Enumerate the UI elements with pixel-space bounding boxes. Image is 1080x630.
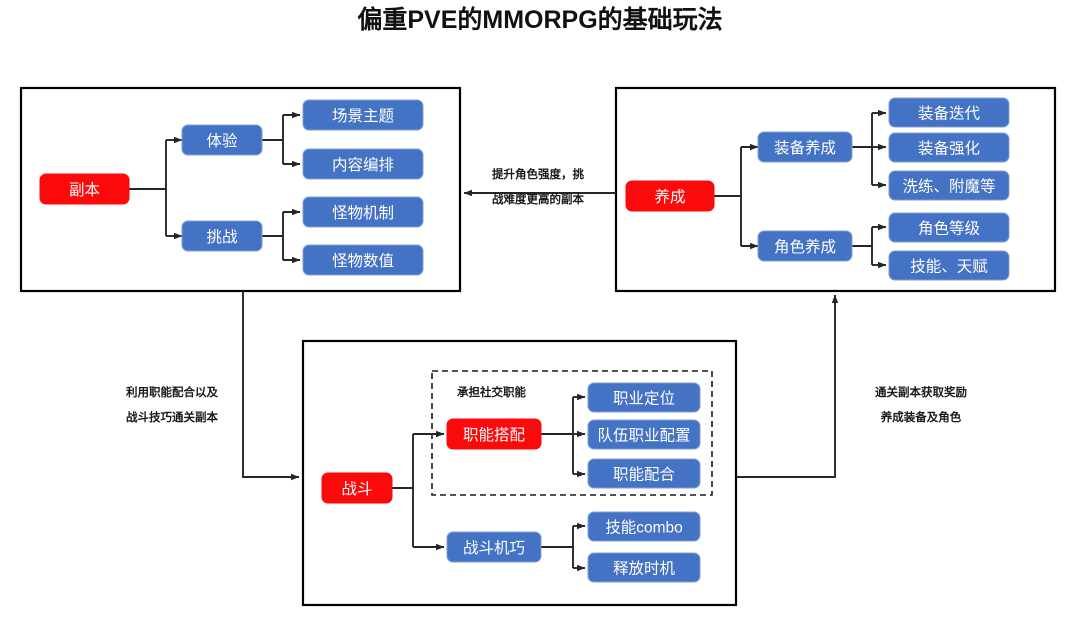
node-label: 怪物数值 [332,252,394,270]
node-label: 装备强化 [918,140,980,158]
connector-combat-to-progression [736,295,835,477]
connector-dungeon-to-combat [243,291,299,477]
connector-progression-to-dungeon-label-line1: 提升角色强度，挑 [492,167,584,181]
node-neirongbianpai[interactable]: 内容编排 [303,149,423,179]
node-label: 养成 [654,188,685,206]
connector-dungeon-to-combat-label-line1: 利用职能配合以及 [125,385,218,399]
node-label: 释放时机 [613,560,676,578]
node-label: 角色养成 [774,238,836,256]
social-function-group-label: 承担社交职能 [456,385,526,399]
node-tiaozhan[interactable]: 挑战 [182,221,262,251]
node-jinengcombo[interactable]: 技能combo [588,512,700,541]
node-guaiwushuzhi[interactable]: 怪物数值 [303,245,423,275]
node-fuben[interactable]: 副本 [40,174,129,204]
connector-dungeon-to-combat-label-line2: 战斗技巧通关副本 [126,410,218,424]
node-shifangshiji[interactable]: 释放时机 [588,553,700,582]
node-zhuangbeidiedai[interactable]: 装备迭代 [889,98,1009,127]
node-tiyan[interactable]: 体验 [182,125,262,155]
node-label: 洗练、附魔等 [902,178,995,196]
page-title: 偏重PVE的MMORPG的基础玩法 [357,5,722,34]
node-duiwuzhiyepeizhi[interactable]: 队伍职业配置 [588,420,700,449]
node-zhinengpeihe[interactable]: 职能配合 [588,459,700,488]
node-zhandoujiqiao[interactable]: 战斗机巧 [447,532,541,562]
node-label: 挑战 [206,228,238,246]
node-label: 技能、天赋 [910,258,988,276]
node-label: 技能combo [605,519,683,537]
node-zhuangbeiqianghua[interactable]: 装备强化 [889,133,1009,162]
node-label: 体验 [206,132,238,150]
node-label: 角色等级 [918,220,980,238]
node-guaiwujizhi[interactable]: 怪物机制 [303,197,423,227]
node-zhandou[interactable]: 战斗 [322,473,392,503]
node-label: 职业定位 [613,390,675,408]
node-label: 队伍职业配置 [597,427,690,445]
node-zhinengdapei[interactable]: 职能搭配 [447,419,541,449]
node-changjingzhuti[interactable]: 场景主题 [303,100,423,130]
flowchart-svg: 偏重PVE的MMORPG的基础玩法 副本 体验 [0,0,1080,630]
connector-combat-to-progression-label-line2: 养成装备及角色 [880,410,962,424]
node-jinengtianfu[interactable]: 技能、天赋 [889,251,1009,280]
diagram-canvas: 偏重PVE的MMORPG的基础玩法 副本 体验 [0,0,1080,630]
node-label: 战斗机巧 [463,539,525,557]
node-label: 副本 [69,181,100,199]
connector-progression-to-dungeon-label-line2: 战难度更高的副本 [492,192,584,206]
node-label: 职能搭配 [463,426,525,444]
node-zhiyedingwei[interactable]: 职业定位 [588,383,700,412]
node-label: 职能配合 [613,466,676,484]
node-label: 场景主题 [332,107,394,125]
node-label: 装备迭代 [918,105,981,123]
node-label: 怪物机制 [332,204,394,222]
connector-combat-to-progression-label-line1: 通关副本获取奖励 [875,385,967,399]
node-label: 战斗 [341,480,372,498]
node-zhuangbeiyangcheng[interactable]: 装备养成 [758,132,852,162]
node-label: 装备养成 [774,139,836,157]
node-xilianfumo[interactable]: 洗练、附魔等 [889,171,1009,200]
node-yangcheng[interactable]: 养成 [626,181,714,211]
node-jueseyangcheng[interactable]: 角色养成 [758,231,852,261]
node-label: 内容编排 [332,156,394,174]
node-jusedengji[interactable]: 角色等级 [889,213,1009,242]
